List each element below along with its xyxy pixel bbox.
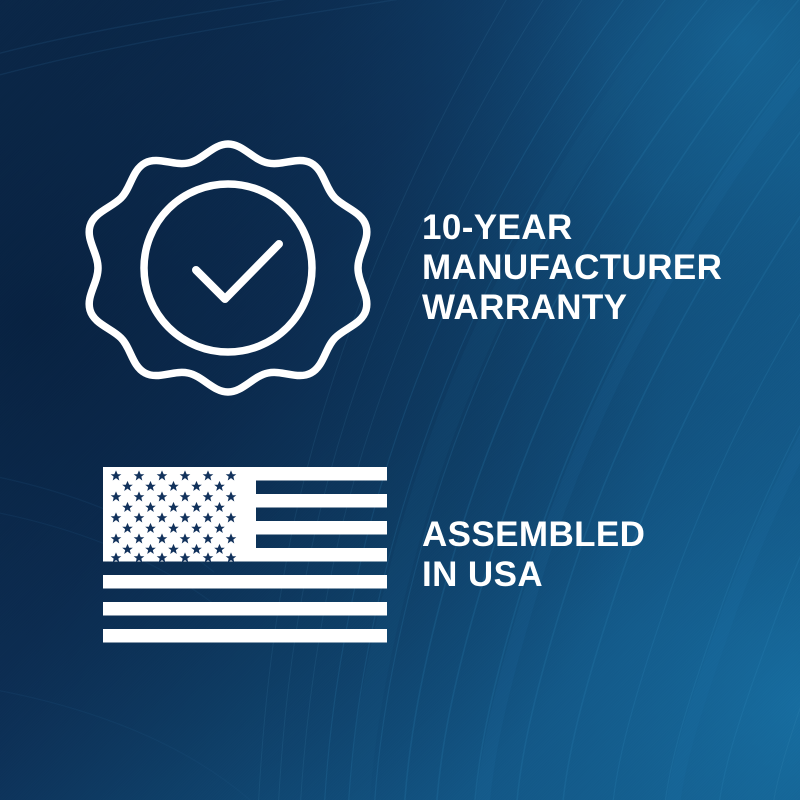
usa-text-block: ASSEMBLED IN USA xyxy=(387,515,800,595)
warranty-line-2: MANUFACTURER xyxy=(422,248,800,288)
warranty-headline: 10-YEAR MANUFACTURER WARRANTY xyxy=(422,208,800,328)
verified-badge-check-icon xyxy=(103,140,353,396)
usa-flag-icon xyxy=(103,467,387,643)
background-artwork xyxy=(0,0,800,800)
flag-canton xyxy=(103,467,256,562)
warranty-line-1: 10-YEAR xyxy=(422,208,800,248)
warranty-line-3: WARRANTY xyxy=(422,288,800,328)
feature-warranty: 10-YEAR MANUFACTURER WARRANTY xyxy=(0,140,800,396)
usa-headline: ASSEMBLED IN USA xyxy=(422,515,800,595)
usa-line-2: IN USA xyxy=(422,555,800,595)
promo-graphic: 10-YEAR MANUFACTURER WARRANTY xyxy=(0,0,800,800)
checkmark-icon xyxy=(196,244,279,299)
badge-inner-circle xyxy=(144,184,312,352)
feature-assembled-usa: ASSEMBLED IN USA xyxy=(0,462,800,648)
usa-line-1: ASSEMBLED xyxy=(422,515,800,555)
warranty-text-block: 10-YEAR MANUFACTURER WARRANTY xyxy=(353,208,800,328)
